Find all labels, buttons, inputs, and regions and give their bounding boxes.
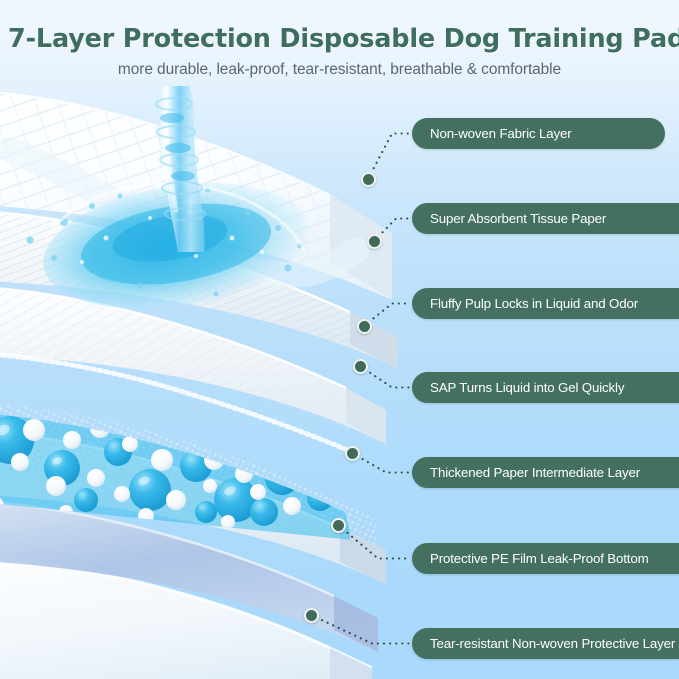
callout-pill-layer-1: Non-woven Fabric Layer — [412, 118, 665, 149]
callout-marker-dot-layer-3 — [357, 319, 372, 334]
callout-pill-layer-7: Tear-resistant Non-woven Protective Laye… — [412, 628, 679, 659]
callout-marker-dot-layer-2 — [367, 234, 382, 249]
callout-marker-dot-layer-1 — [361, 172, 376, 187]
callout-marker-dot-layer-7 — [304, 608, 319, 623]
page-subtitle: more durable, leak-proof, tear-resistant… — [0, 54, 679, 79]
leader-line-layer-4 — [360, 366, 410, 388]
callout-pill-layer-5: Thickened Paper Intermediate Layer — [412, 457, 679, 488]
callout-pill-layer-2: Super Absorbent Tissue Paper — [412, 203, 679, 234]
leader-line-layer-7 — [311, 615, 410, 644]
page-title: 7-Layer Protection Disposable Dog Traini… — [0, 0, 679, 54]
header: 7-Layer Protection Disposable Dog Traini… — [0, 0, 679, 79]
callout-pill-layer-6: Protective PE Film Leak-Proof Bottom — [412, 543, 679, 574]
leader-line-layer-1 — [368, 134, 410, 180]
callout-list: Non-woven Fabric LayerSuper Absorbent Ti… — [0, 0, 679, 679]
callout-marker-dot-layer-4 — [353, 359, 368, 374]
leader-line-layer-5 — [352, 453, 410, 473]
callout-pill-layer-4: SAP Turns Liquid into Gel Quickly — [412, 372, 679, 403]
callout-pill-layer-3: Fluffy Pulp Locks in Liquid and Odor — [412, 288, 679, 319]
leader-lines — [0, 0, 679, 679]
callout-marker-dot-layer-5 — [345, 446, 360, 461]
callout-marker-dot-layer-6 — [331, 518, 346, 533]
leader-line-layer-6 — [338, 525, 410, 559]
product-infographic: 7-Layer Protection Disposable Dog Traini… — [0, 0, 679, 679]
